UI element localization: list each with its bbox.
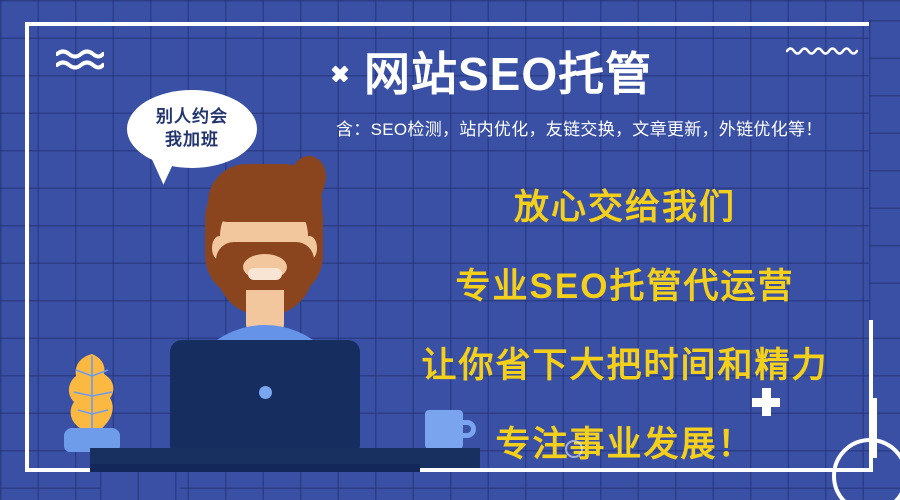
poster-subtitle: 含：SEO检测，站内优化，友链交换，文章更新，外链优化等！	[336, 115, 823, 140]
double-wave-icon	[56, 48, 104, 72]
poster-title-row: 网站SEO托管	[330, 46, 750, 102]
coffee-mug	[425, 410, 463, 452]
mouth	[248, 268, 282, 280]
cross-icon	[330, 64, 350, 84]
laptop	[170, 340, 360, 450]
speech-bubble-line-2: 我加班	[165, 129, 219, 152]
small-ring-decoration	[565, 440, 583, 458]
plant-leaf-icon	[66, 352, 118, 436]
single-wave-icon	[786, 44, 858, 58]
selling-point-3: 让你省下大把时间和精力	[390, 348, 860, 383]
seo-hosting-poster: 网站SEO托管 含：SEO检测，站内优化，友链交换，文章更新，外链优化等！ 放心…	[0, 0, 900, 500]
frame-mask-right	[869, 20, 900, 320]
selling-point-1: 放心交给我们	[390, 190, 860, 225]
desk-edge	[90, 464, 420, 472]
selling-point-2: 专业SEO托管代运营	[390, 269, 860, 304]
speech-bubble-line-1: 别人约会	[156, 106, 228, 129]
hair-front	[208, 164, 322, 222]
corner-line-decoration	[873, 398, 877, 458]
page-title: 网站SEO托管	[364, 51, 652, 97]
laptop-logo-dot	[259, 386, 272, 399]
